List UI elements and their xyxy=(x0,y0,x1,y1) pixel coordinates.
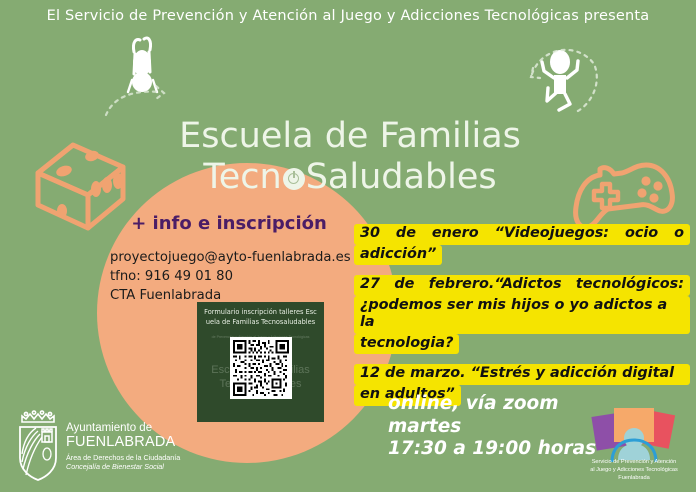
schedule-line-3: 17:30 a 19:00 horas xyxy=(388,438,596,461)
session-item: 27 de febrero.“Adictos tecnológicos: ¿po… xyxy=(354,275,690,354)
qr-registration-panel[interactable]: de Prevención y Atención al Juego y Adic… xyxy=(197,302,324,422)
service-logo-line-3: Fuenlabrada xyxy=(576,474,692,482)
service-logo-caption: Servicio de Prevención y Atención al Jue… xyxy=(576,458,692,482)
page-title: Escuela de Familias TecnSaludables xyxy=(120,116,580,197)
session-1-line-1: 30 de enero “Videojuegos: ocio o xyxy=(354,224,690,245)
service-logo: Servicio de Prevención y Atención al Jue… xyxy=(576,406,692,490)
city-logo-line-3: Área de Derechos de la Ciudadanía xyxy=(66,453,216,462)
session-item: 30 de enero “Videojuegos: ocio o adicció… xyxy=(354,224,690,265)
qr-title-line-2: uela de Familias Tecnosaludables xyxy=(201,318,320,328)
poster-canvas: El Servicio de Prevención y Atención al … xyxy=(0,0,696,492)
session-list: 30 de enero “Videojuegos: ocio o adicció… xyxy=(354,224,690,416)
city-logo-text: Ayuntamiento de FUENLABRADA Área de Dere… xyxy=(66,422,216,471)
jumping-figure-icon xyxy=(520,38,606,122)
qr-code[interactable] xyxy=(230,337,292,399)
handstand-figure-icon xyxy=(104,30,194,118)
session-2-line-2: ¿podemos ser mis hijos o yo adictos a la xyxy=(354,296,690,334)
city-logo-line-1: Ayuntamiento de xyxy=(66,422,216,435)
fuenlabrada-coat-of-arms-icon xyxy=(14,410,66,487)
schedule-line-2: martes xyxy=(388,416,596,439)
title-line-2: TecnSaludables xyxy=(120,157,580,198)
qr-panel-title: Formulario inscripción talleres Esc uela… xyxy=(201,308,320,327)
fuenlabrada-city-logo: Ayuntamiento de FUENLABRADA Área de Dere… xyxy=(10,408,210,490)
schedule-line-1: online, vía zoom xyxy=(388,393,596,416)
info-heading: + info e inscripción xyxy=(104,213,354,234)
session-1-line-2: adicción” xyxy=(354,245,442,266)
info-contact-block: proyectojuego@ayto-fuenlabrada.es tfno: … xyxy=(110,248,370,305)
session-2-line-1: 27 de febrero.“Adictos tecnológicos: xyxy=(354,275,690,296)
title-line-2-prefix: Tecn xyxy=(203,157,281,197)
city-logo-line-2: FUENLABRADA xyxy=(66,435,216,451)
session-2-line-3: tecnologia? xyxy=(354,334,459,355)
contact-phone: tfno: 916 49 01 80 xyxy=(110,267,370,286)
session-3-line-1: 12 de marzo. “Estrés y adicción digital xyxy=(354,364,690,385)
service-logo-line-1: Servicio de Prevención y Atención xyxy=(576,458,692,466)
schedule-block: online, vía zoom martes 17:30 a 19:00 ho… xyxy=(388,393,596,461)
poster-header-text: El Servicio de Prevención y Atención al … xyxy=(0,8,696,24)
contact-email[interactable]: proyectojuego@ayto-fuenlabrada.es xyxy=(110,248,370,267)
title-line-1: Escuela de Familias xyxy=(120,116,580,157)
qr-title-line-1: Formulario inscripción talleres Esc xyxy=(201,308,320,318)
service-logo-line-2: al Juego y Adicciones Tecnológicas xyxy=(576,466,692,474)
title-line-2-suffix: Saludables xyxy=(306,157,497,197)
power-icon xyxy=(282,167,306,191)
city-logo-line-4: Concejalía de Bienestar Social xyxy=(66,462,216,471)
